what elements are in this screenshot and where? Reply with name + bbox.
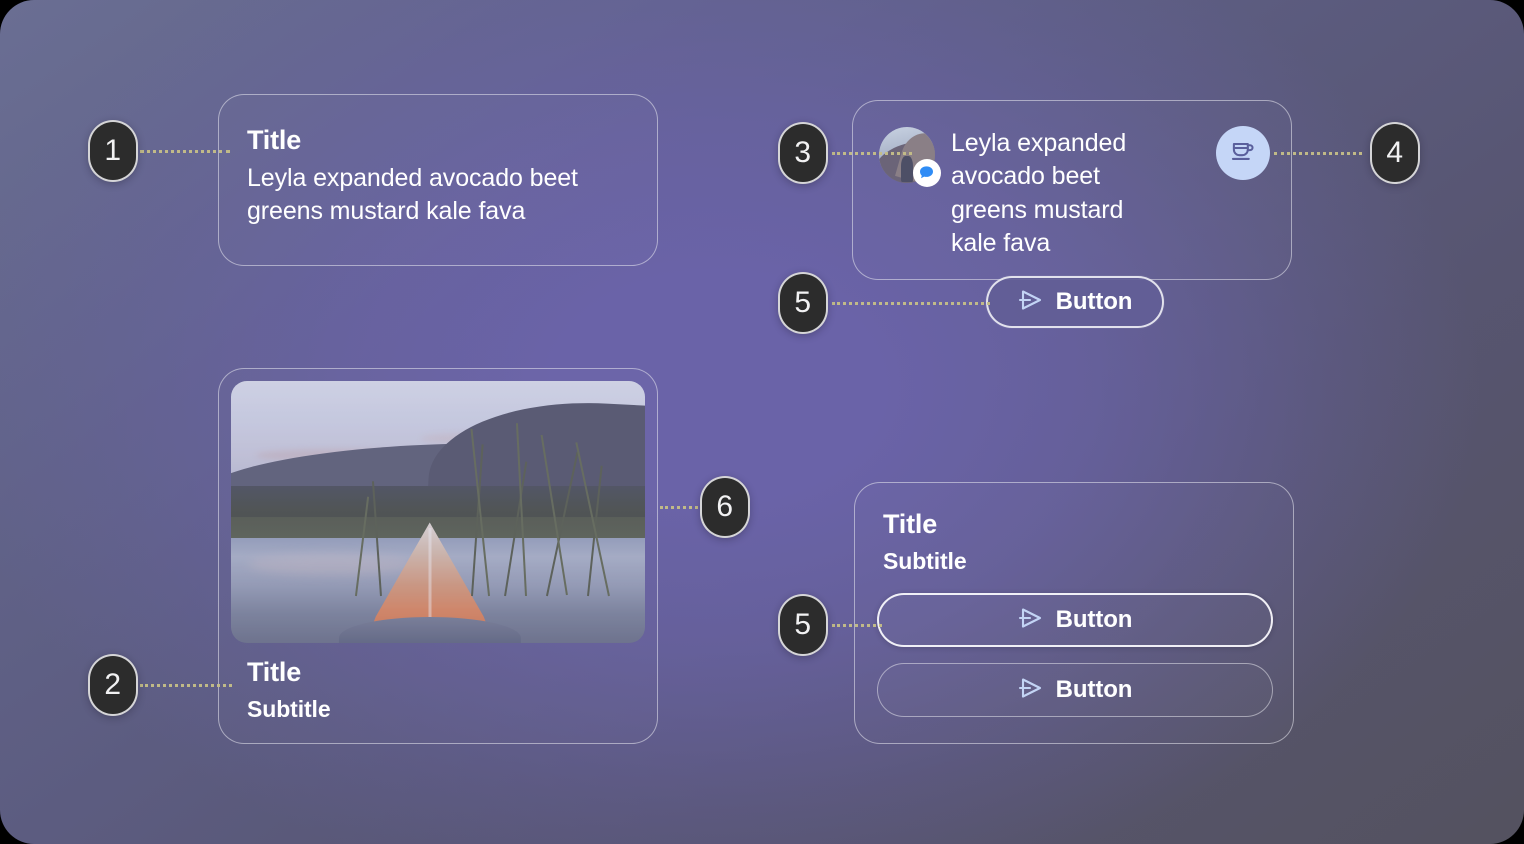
secondary-button[interactable]: Button	[877, 663, 1273, 717]
avatar-card[interactable]: Leyla expanded avocado beet greens musta…	[852, 100, 1292, 280]
leader-line-5a	[832, 302, 990, 305]
leader-line-4	[1274, 152, 1362, 155]
callout-badge-4: 4	[1370, 122, 1420, 184]
callout-badge-1: 1	[88, 120, 138, 182]
leader-line-1	[140, 150, 230, 153]
media-card-image[interactable]	[231, 381, 645, 643]
send-icon	[1018, 606, 1044, 635]
avatar[interactable]	[879, 127, 935, 183]
avatar-card-body: Leyla expanded avocado beet greens musta…	[951, 127, 1139, 260]
leader-line-5b	[832, 624, 882, 627]
avatar-card-row: Leyla expanded avocado beet greens musta…	[853, 101, 1291, 260]
media-card-caption: Title Subtitle	[247, 657, 331, 723]
secondary-button-label: Button	[1056, 676, 1133, 704]
text-card-body: Leyla expanded avocado beet greens musta…	[247, 162, 629, 229]
kayak-on-lake-photo	[231, 381, 645, 643]
text-card[interactable]: Title Leyla expanded avocado beet greens…	[218, 94, 658, 266]
callout-badge-2: 2	[88, 654, 138, 716]
callout-badge-5b: 5	[778, 594, 828, 656]
media-card-title: Title	[247, 657, 331, 688]
media-card-subtitle: Subtitle	[247, 696, 331, 723]
coffee-cup-icon	[1228, 136, 1258, 171]
callout-badge-3: 3	[778, 122, 828, 184]
primary-button[interactable]: Button	[877, 593, 1273, 647]
actions-card-title: Title	[883, 509, 1271, 540]
callout-badge-6: 6	[700, 476, 750, 538]
media-card[interactable]: Title Subtitle	[218, 368, 658, 744]
chat-bubble-icon	[913, 159, 941, 187]
leader-line-3	[832, 152, 912, 155]
actions-card-subtitle: Subtitle	[883, 548, 1271, 575]
callout-badge-5a: 5	[778, 272, 828, 334]
text-card-title: Title	[247, 125, 629, 156]
overlap-button[interactable]: Button	[986, 276, 1164, 328]
coffee-cup-icon-chip[interactable]	[1216, 126, 1270, 180]
leader-line-2	[140, 684, 232, 687]
primary-button-label: Button	[1056, 606, 1133, 634]
send-icon	[1018, 676, 1044, 705]
screenshot-canvas: 1 Title Leyla expanded avocado beet gree…	[0, 0, 1524, 844]
leader-line-6	[660, 506, 704, 509]
overlap-button-label: Button	[1056, 288, 1133, 316]
send-icon	[1018, 288, 1044, 317]
actions-card[interactable]: Title Subtitle Button Button	[854, 482, 1294, 744]
